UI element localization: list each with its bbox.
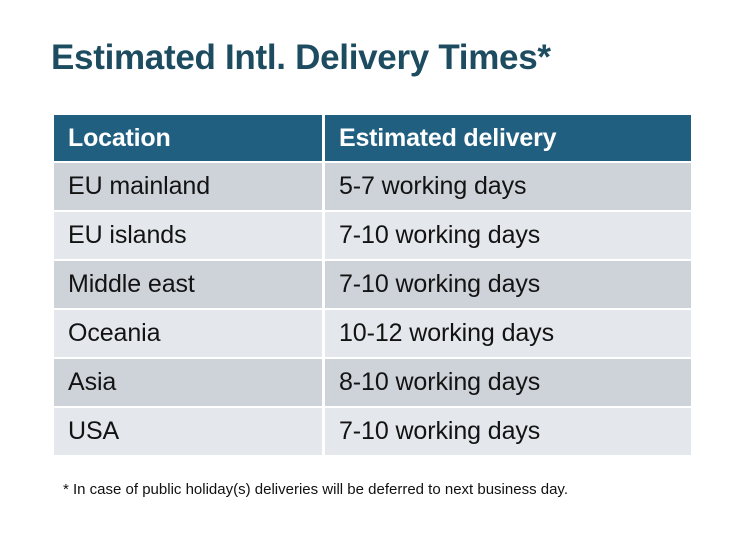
footnote-text: * In case of public holiday(s) deliverie… [63,479,568,501]
column-header-location: Location [54,115,322,161]
table-row: Middle east 7-10 working days [54,261,691,308]
cell-location: Asia [54,359,322,406]
table-header: Location Estimated delivery [54,115,691,161]
table-row: EU islands 7-10 working days [54,212,691,259]
column-header-estimated-delivery: Estimated delivery [325,115,691,161]
cell-estimated-delivery: 7-10 working days [325,261,691,308]
table-row: EU mainland 5-7 working days [54,163,691,210]
cell-location: USA [54,408,322,455]
table-body: EU mainland 5-7 working days EU islands … [54,163,691,455]
estimated-delivery-table: Location Estimated delivery EU mainland … [51,113,694,457]
table-header-row: Location Estimated delivery [54,115,691,161]
cell-location: EU mainland [54,163,322,210]
cell-estimated-delivery: 7-10 working days [325,408,691,455]
cell-location: Oceania [54,310,322,357]
cell-location: Middle east [54,261,322,308]
cell-estimated-delivery: 8-10 working days [325,359,691,406]
cell-estimated-delivery: 5-7 working days [325,163,691,210]
cell-estimated-delivery: 7-10 working days [325,212,691,259]
table-row: Oceania 10-12 working days [54,310,691,357]
table-row: Asia 8-10 working days [54,359,691,406]
delivery-times-page: Estimated Intl. Delivery Times* Location… [0,0,745,536]
page-title: Estimated Intl. Delivery Times* [51,37,551,79]
cell-estimated-delivery: 10-12 working days [325,310,691,357]
table-row: USA 7-10 working days [54,408,691,455]
cell-location: EU islands [54,212,322,259]
